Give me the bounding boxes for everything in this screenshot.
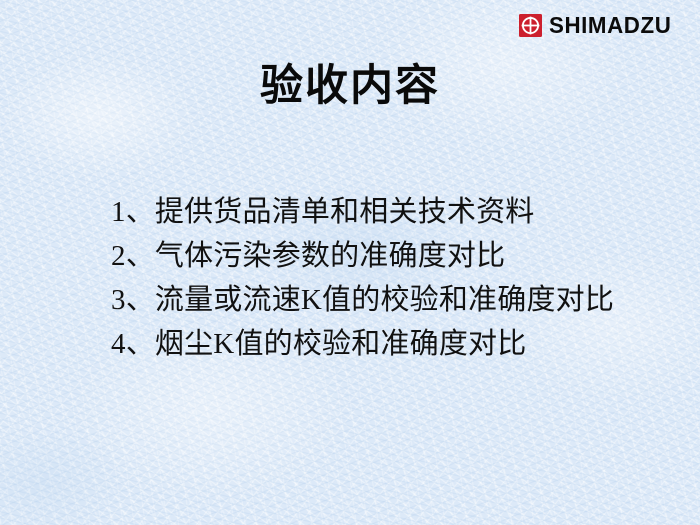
list-item: 4、烟尘K值的校验和准确度对比 xyxy=(111,322,691,366)
list-item-text: 流量或流速K值的校验和准确度对比 xyxy=(155,284,614,316)
list-item-number: 1、 xyxy=(111,196,155,228)
list-item: 3、流量或流速K值的校验和准确度对比 xyxy=(111,278,691,322)
shimadzu-logo: SHIMADZU xyxy=(519,14,675,37)
list-item-text: 气体污染参数的准确度对比 xyxy=(155,240,505,272)
list-item-text: 提供货品清单和相关技术资料 xyxy=(155,196,535,228)
shimadzu-wordmark: SHIMADZU xyxy=(549,14,671,37)
list-item-number: 2、 xyxy=(111,240,155,272)
page-title: 验收内容 xyxy=(0,61,700,113)
list-item: 1、提供货品清单和相关技术资料 xyxy=(111,190,691,234)
list-item-number: 4、 xyxy=(111,328,155,360)
shimadzu-circle-cross-mark xyxy=(519,14,542,37)
list-item-number: 3、 xyxy=(111,284,155,316)
content-list: 1、提供货品清单和相关技术资料 2、气体污染参数的准确度对比 3、流量或流速K值… xyxy=(111,190,691,366)
list-item-text: 烟尘K值的校验和准确度对比 xyxy=(155,328,527,360)
list-item: 2、气体污染参数的准确度对比 xyxy=(111,234,691,278)
slide-canvas: SHIMADZU 验收内容 1、提供货品清单和相关技术资料 2、气体污染参数的准… xyxy=(0,0,700,525)
